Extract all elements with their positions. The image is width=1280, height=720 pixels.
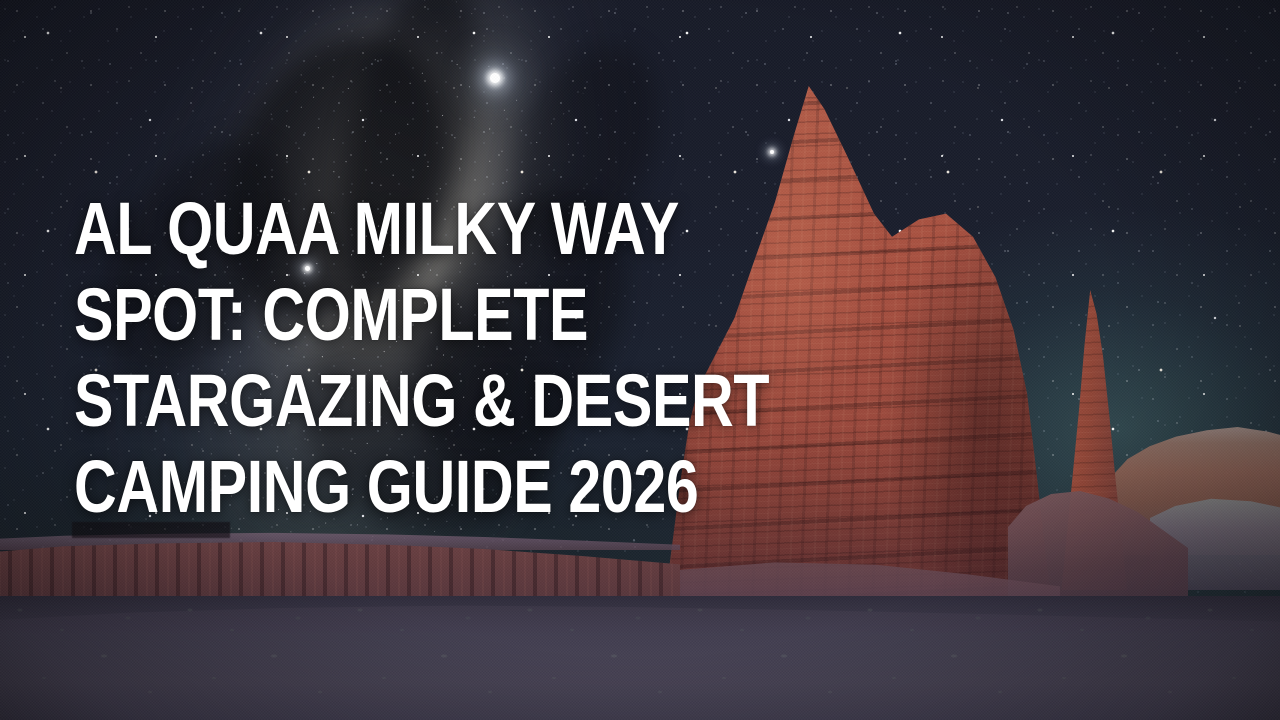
thumbnail-title: AL QUAA MILKY WAY SPOT: COMPLETE STARGAZ… [74, 186, 694, 530]
video-thumbnail: AL QUAA MILKY WAY SPOT: COMPLETE STARGAZ… [0, 0, 1280, 720]
bright-star [490, 73, 500, 83]
title-line-3: STARGAZING & DESERT [74, 358, 570, 444]
bright-star [770, 150, 774, 154]
title-line-2: SPOT: COMPLETE [74, 272, 570, 358]
title-line-4: CAMPING GUIDE 2026 [74, 444, 570, 530]
desert-floor-shading [0, 596, 1280, 720]
title-line-1: AL QUAA MILKY WAY [74, 186, 570, 272]
